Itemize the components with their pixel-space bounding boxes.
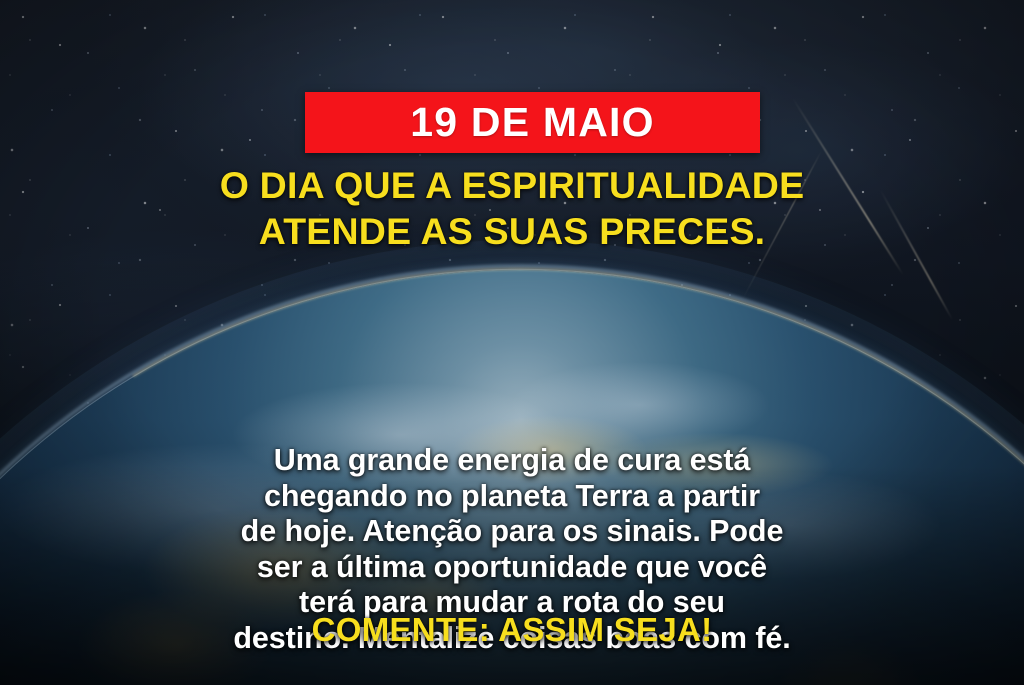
date-banner: 19 DE MAIO	[305, 92, 760, 153]
headline-text: O DIA QUE A ESPIRITUALIDADE ATENDE AS SU…	[62, 163, 962, 255]
date-banner-text: 19 DE MAIO	[410, 102, 654, 143]
poster-content: 19 DE MAIO O DIA QUE A ESPIRITUALIDADE A…	[0, 0, 1024, 685]
poster-canvas: 19 DE MAIO O DIA QUE A ESPIRITUALIDADE A…	[0, 0, 1024, 685]
call-to-action-text: COMENTE: ASSIM SEJA!	[62, 612, 962, 648]
